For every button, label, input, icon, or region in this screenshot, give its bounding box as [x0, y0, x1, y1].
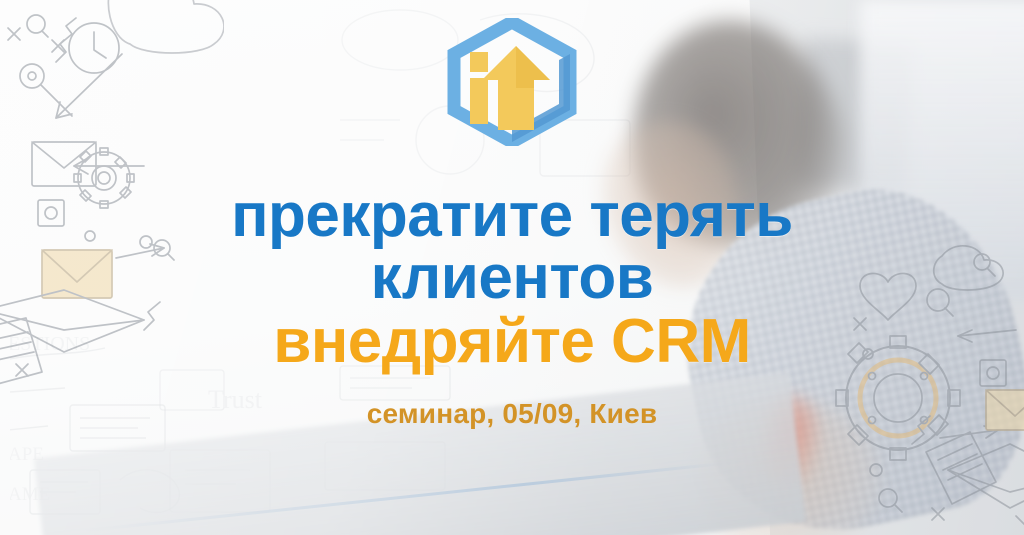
it-hexagon-logo	[446, 18, 578, 146]
arrow-icon	[56, 54, 122, 118]
cloud-icon	[108, 0, 224, 53]
logo-letter-i-dot	[470, 52, 488, 72]
magnifier-icon	[879, 489, 897, 507]
zigzag-icon	[56, 18, 76, 62]
promo-banner: ESTIONS APE AME Trust	[0, 0, 1024, 535]
headline-line-3: внедряйте CRM	[0, 312, 1024, 372]
cross-icon	[1016, 516, 1024, 526]
headline-line-1: прекратите терять	[0, 186, 1024, 246]
cross-icon	[8, 28, 20, 40]
cross-icon	[932, 508, 944, 520]
copy-block: прекратите терять клиентов внедряйте CRM…	[0, 186, 1024, 430]
logo-icon	[446, 18, 578, 146]
event-subtitle: семинар, 05/09, Киев	[0, 398, 1024, 430]
headline-line-2: клиентов	[0, 248, 1024, 308]
logo-letter-i-stem	[470, 78, 488, 124]
logo-letter-t-shade	[516, 46, 550, 88]
envelope-icon	[32, 142, 96, 186]
envelope-icon	[948, 444, 1024, 508]
circle-icon	[870, 464, 882, 476]
